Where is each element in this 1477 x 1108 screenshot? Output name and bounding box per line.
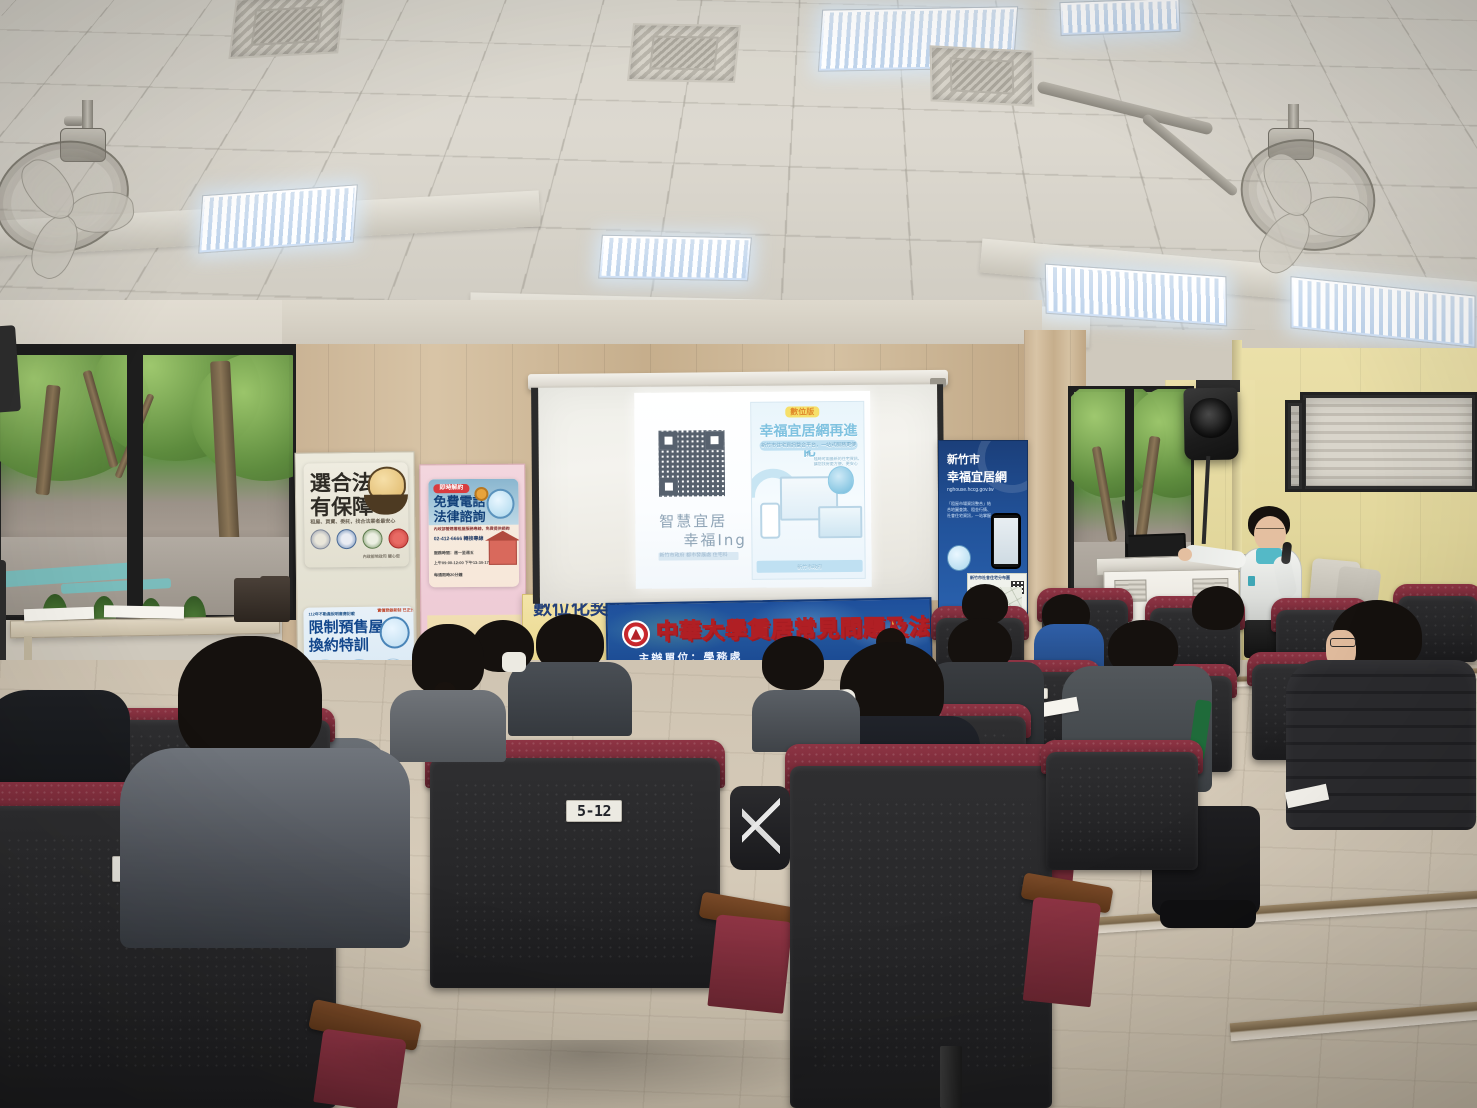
floor-shadow-front <box>330 1040 850 1108</box>
audience-face-mask <box>502 652 526 672</box>
poster-icon-2 <box>336 529 356 549</box>
slide-poster-laptop-icon <box>818 506 862 538</box>
audience-head-back-1 <box>1192 586 1244 630</box>
seatside-5-12 <box>707 914 792 1013</box>
fluorescent-panel-light-2 <box>598 235 752 282</box>
pink-line2: 02-412-6666 轉接專線 <box>434 537 484 543</box>
poster-icon-1 <box>310 529 330 549</box>
presenter-head <box>1254 516 1286 552</box>
pink-house-roof-icon <box>485 531 519 541</box>
audience-puffer-jacket <box>1286 660 1476 830</box>
slide-poster-phone-icon <box>760 503 780 539</box>
audience-head-masked-2 <box>762 636 824 690</box>
paper-stack-2 <box>104 605 184 618</box>
presenter-hand <box>1178 548 1192 561</box>
slide-caption: 新竹市政府 都市發展處 住宅科 <box>660 551 728 559</box>
wall-upper-beige <box>282 300 1042 344</box>
presenter-badge <box>1248 576 1255 586</box>
air-vent-left <box>228 0 345 59</box>
poster-bottom-headline-2: 換約特訓 <box>309 638 369 654</box>
poster-subline: 租屋、買賣、委託，找合法業者最安心 <box>310 520 395 526</box>
window-right-blinds <box>1300 392 1477 492</box>
slide-headline-2: 幸福Ing <box>683 529 747 551</box>
slide-poster-image: 數位版 幸福宜居網再進化 新竹市住宅資訊整合平台，一站式服務更便利 隨時可用最新… <box>750 401 866 580</box>
standee-url: nghouse.hccg.gov.tw <box>947 488 994 493</box>
pink-line4: 上午09:00-12:00 下午13:30-17:00 <box>434 561 495 566</box>
standee-line-2: 幸福宜居網 <box>947 471 1007 484</box>
audience-glasses-icon <box>1330 638 1356 647</box>
pink-poster-card: 即時解約 免費電話 法律諮詢 內政部營建署租屋服務專線，免費提供諮詢 02-41… <box>428 479 519 588</box>
pink-poster-badge: 即時解約 <box>433 484 469 493</box>
seat-right-mid-extra[interactable] <box>1046 752 1198 870</box>
window-blind-2[interactable] <box>1291 406 1299 486</box>
standee-phone-map-screen <box>994 518 1018 564</box>
pink-line3: 服務時間：週一至週五 <box>434 551 474 555</box>
audience-shoulders-masked-2 <box>752 690 860 752</box>
audience-hoodie-foreground <box>120 748 410 948</box>
poster-headline-1: 選合法 <box>310 473 373 496</box>
bag-2 <box>260 576 290 622</box>
standee-swirl-decor-icon <box>977 440 1028 493</box>
audience-shoulders-ponytail <box>390 690 506 762</box>
lecture-hall-photo: 選合法 有保障 租屋、買賣、委託，找合法業者最安心 內政部地政司 關心您 112… <box>0 0 1477 1108</box>
poster-bottom-headline-1: 限制預售屋 <box>309 620 384 637</box>
audience-head-foreground <box>178 636 322 764</box>
pink-line1: 內政部營建署租屋服務專線，免費提供諮詢 <box>434 527 510 532</box>
poster-icon-4 <box>388 528 408 548</box>
standee-line-1: 新竹市 <box>947 455 980 467</box>
seat-tag-5-12: 5-12 <box>566 800 622 822</box>
fluorescent-panel-light-6 <box>1059 0 1180 36</box>
seatside-foreground-right <box>1023 897 1101 1008</box>
pink-mascot-icon <box>486 489 514 519</box>
projected-slide: 智慧宜居 幸福Ing 新竹市政府 都市發展處 住宅科 數位版 幸福宜居網再進化 … <box>634 391 872 589</box>
poster-footer: 內政部地政司 關心您 <box>363 554 400 559</box>
pink-phone-icon <box>474 487 488 501</box>
window-blind[interactable] <box>1306 398 1472 486</box>
audience-shoe-right <box>1160 900 1256 928</box>
standee-mascot-icon <box>947 545 971 571</box>
fluorescent-panel-light-1 <box>198 184 358 253</box>
ceiling-fan-left <box>0 100 170 240</box>
window-right-blinds-2 <box>1285 400 1305 492</box>
poster-card-top: 選合法 有保障 租屋、買賣、委託，找合法業者最安心 內政部地政司 關心您 <box>304 462 409 567</box>
audience-hoodie-print <box>742 796 780 858</box>
poster-icon-3 <box>362 529 382 549</box>
presenter-glasses-icon <box>1256 528 1284 534</box>
poster-bottom-mascot-icon <box>379 616 409 648</box>
slide-poster-footer: 新竹市政府 <box>757 561 863 574</box>
paper-stack-1 <box>24 607 94 621</box>
slide-poster-mascot-icon <box>828 466 854 494</box>
projection-screen: 智慧宜居 幸福Ing 新竹市政府 都市發展處 住宅科 數位版 幸福宜居網再進化 … <box>531 384 945 604</box>
seat-leg-foreground-right <box>940 1046 962 1108</box>
pink-headline-2: 法律諮詢 <box>434 510 486 524</box>
standee-body: 「租屋市場資訊整合」結合地圖查詢、租金行情、社會住宅資訊，一站掌握 <box>947 501 993 519</box>
poster-eyebrow: 112年不動產說明書應記載 <box>308 612 355 617</box>
qr-code <box>658 430 725 497</box>
slide-poster-callout: 隨時可用最新的住宅資訊，讓您找房更方便、更安心 <box>814 456 862 466</box>
pink-house-icon <box>489 539 517 565</box>
poster-bottom-note: 實價登錄新制 已正式上路 <box>377 608 414 613</box>
presenter-arm-pointing <box>1183 544 1247 569</box>
seat-5-12[interactable]: 5-12 <box>430 758 720 988</box>
air-vent-right <box>930 45 1035 107</box>
wall-mounted-loudspeaker <box>1183 388 1238 461</box>
audience-shoulders-center <box>508 662 632 736</box>
air-vent-center <box>627 23 741 83</box>
slide-poster-badge: 數位版 <box>785 406 819 417</box>
standee-map-caption: 新竹市社會住宅分布圖 <box>970 576 1010 580</box>
pink-line5: 每通限時20分鐘 <box>434 573 462 577</box>
ceiling-fan-right <box>1228 104 1408 244</box>
